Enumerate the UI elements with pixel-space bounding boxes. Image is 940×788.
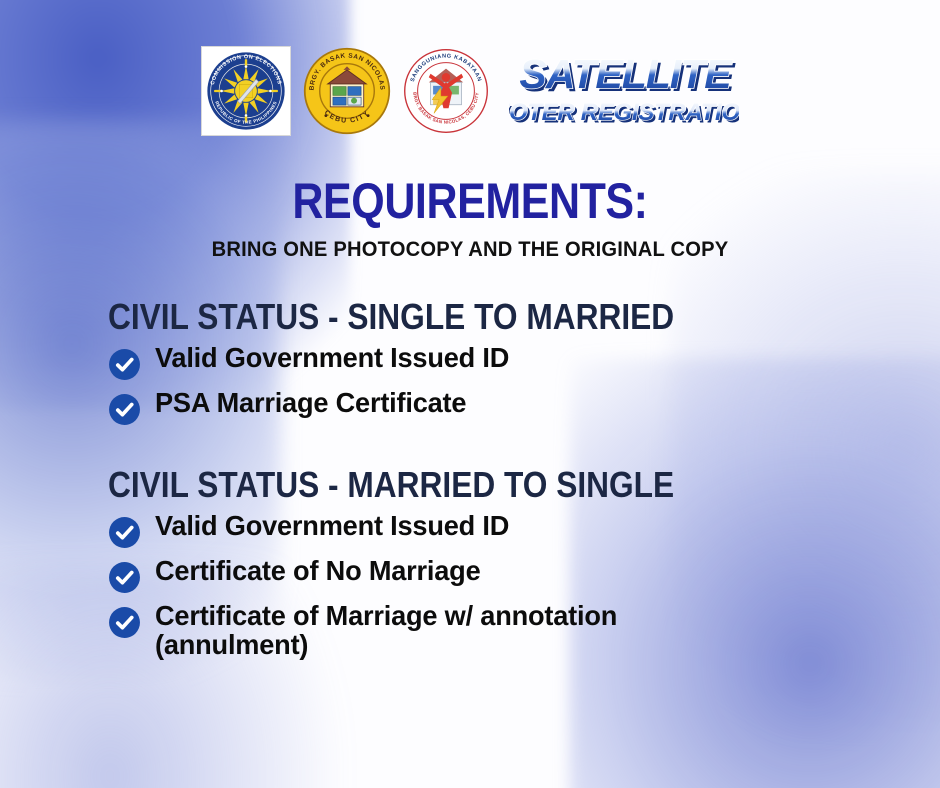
section-married-to-single: CIVIL STATUS - MARRIED TO SINGLE Valid G… (108, 464, 755, 667)
section-heading: CIVIL STATUS - SINGLE TO MARRIED (108, 296, 674, 338)
requirement-label: Certificate of No Marriage (155, 557, 480, 586)
poster-canvas: COMMISSION ON ELECTIONS REPUBLIC OF THE … (0, 0, 940, 788)
section-heading: CIVIL STATUS - MARRIED TO SINGLE (108, 464, 677, 506)
page-subtitle: BRING ONE PHOTOCOPY AND THE ORIGINAL COP… (19, 238, 921, 262)
voter-registration-main: VOTER REGISTRATION (509, 99, 739, 126)
requirement-label: Valid Government Issued ID (155, 512, 509, 541)
requirement-label: PSA Marriage Certificate (155, 389, 466, 418)
check-circle-icon (108, 561, 141, 594)
check-circle-icon (108, 348, 141, 381)
section-single-to-married: CIVIL STATUS - SINGLE TO MARRIED Valid G… (108, 296, 751, 434)
barangay-seal: BRGY. BASAK SAN NICOLAS CEBU CITY (303, 47, 391, 135)
page-title: REQUIREMENTS: (66, 176, 874, 226)
requirement-label: Certificate of Marriage w/ annotation (a… (155, 602, 737, 659)
comelec-seal: COMMISSION ON ELECTIONS REPUBLIC OF THE … (201, 46, 291, 136)
requirement-item: PSA Marriage Certificate (108, 389, 751, 426)
requirement-item: Valid Government Issued ID (108, 344, 751, 381)
check-circle-icon (108, 606, 141, 639)
satellite-title-main: SATELLITE (519, 51, 733, 97)
header-logos: COMMISSION ON ELECTIONS REPUBLIC OF THE … (0, 46, 940, 136)
requirement-item: Valid Government Issued ID (108, 512, 755, 549)
requirement-item: Certificate of Marriage w/ annotation (a… (108, 602, 755, 659)
check-circle-icon (108, 516, 141, 549)
sk-seal: SANGGUNIANG KABATAAN BRGY. BASAK SAN NIC… (403, 48, 489, 134)
check-circle-icon (108, 393, 141, 426)
requirement-label: Valid Government Issued ID (155, 344, 509, 373)
requirement-item: Certificate of No Marriage (108, 557, 755, 594)
satellite-voter-registration-title: SATELLITE SATELLITE VOTER REGISTRATION V… (509, 48, 739, 135)
